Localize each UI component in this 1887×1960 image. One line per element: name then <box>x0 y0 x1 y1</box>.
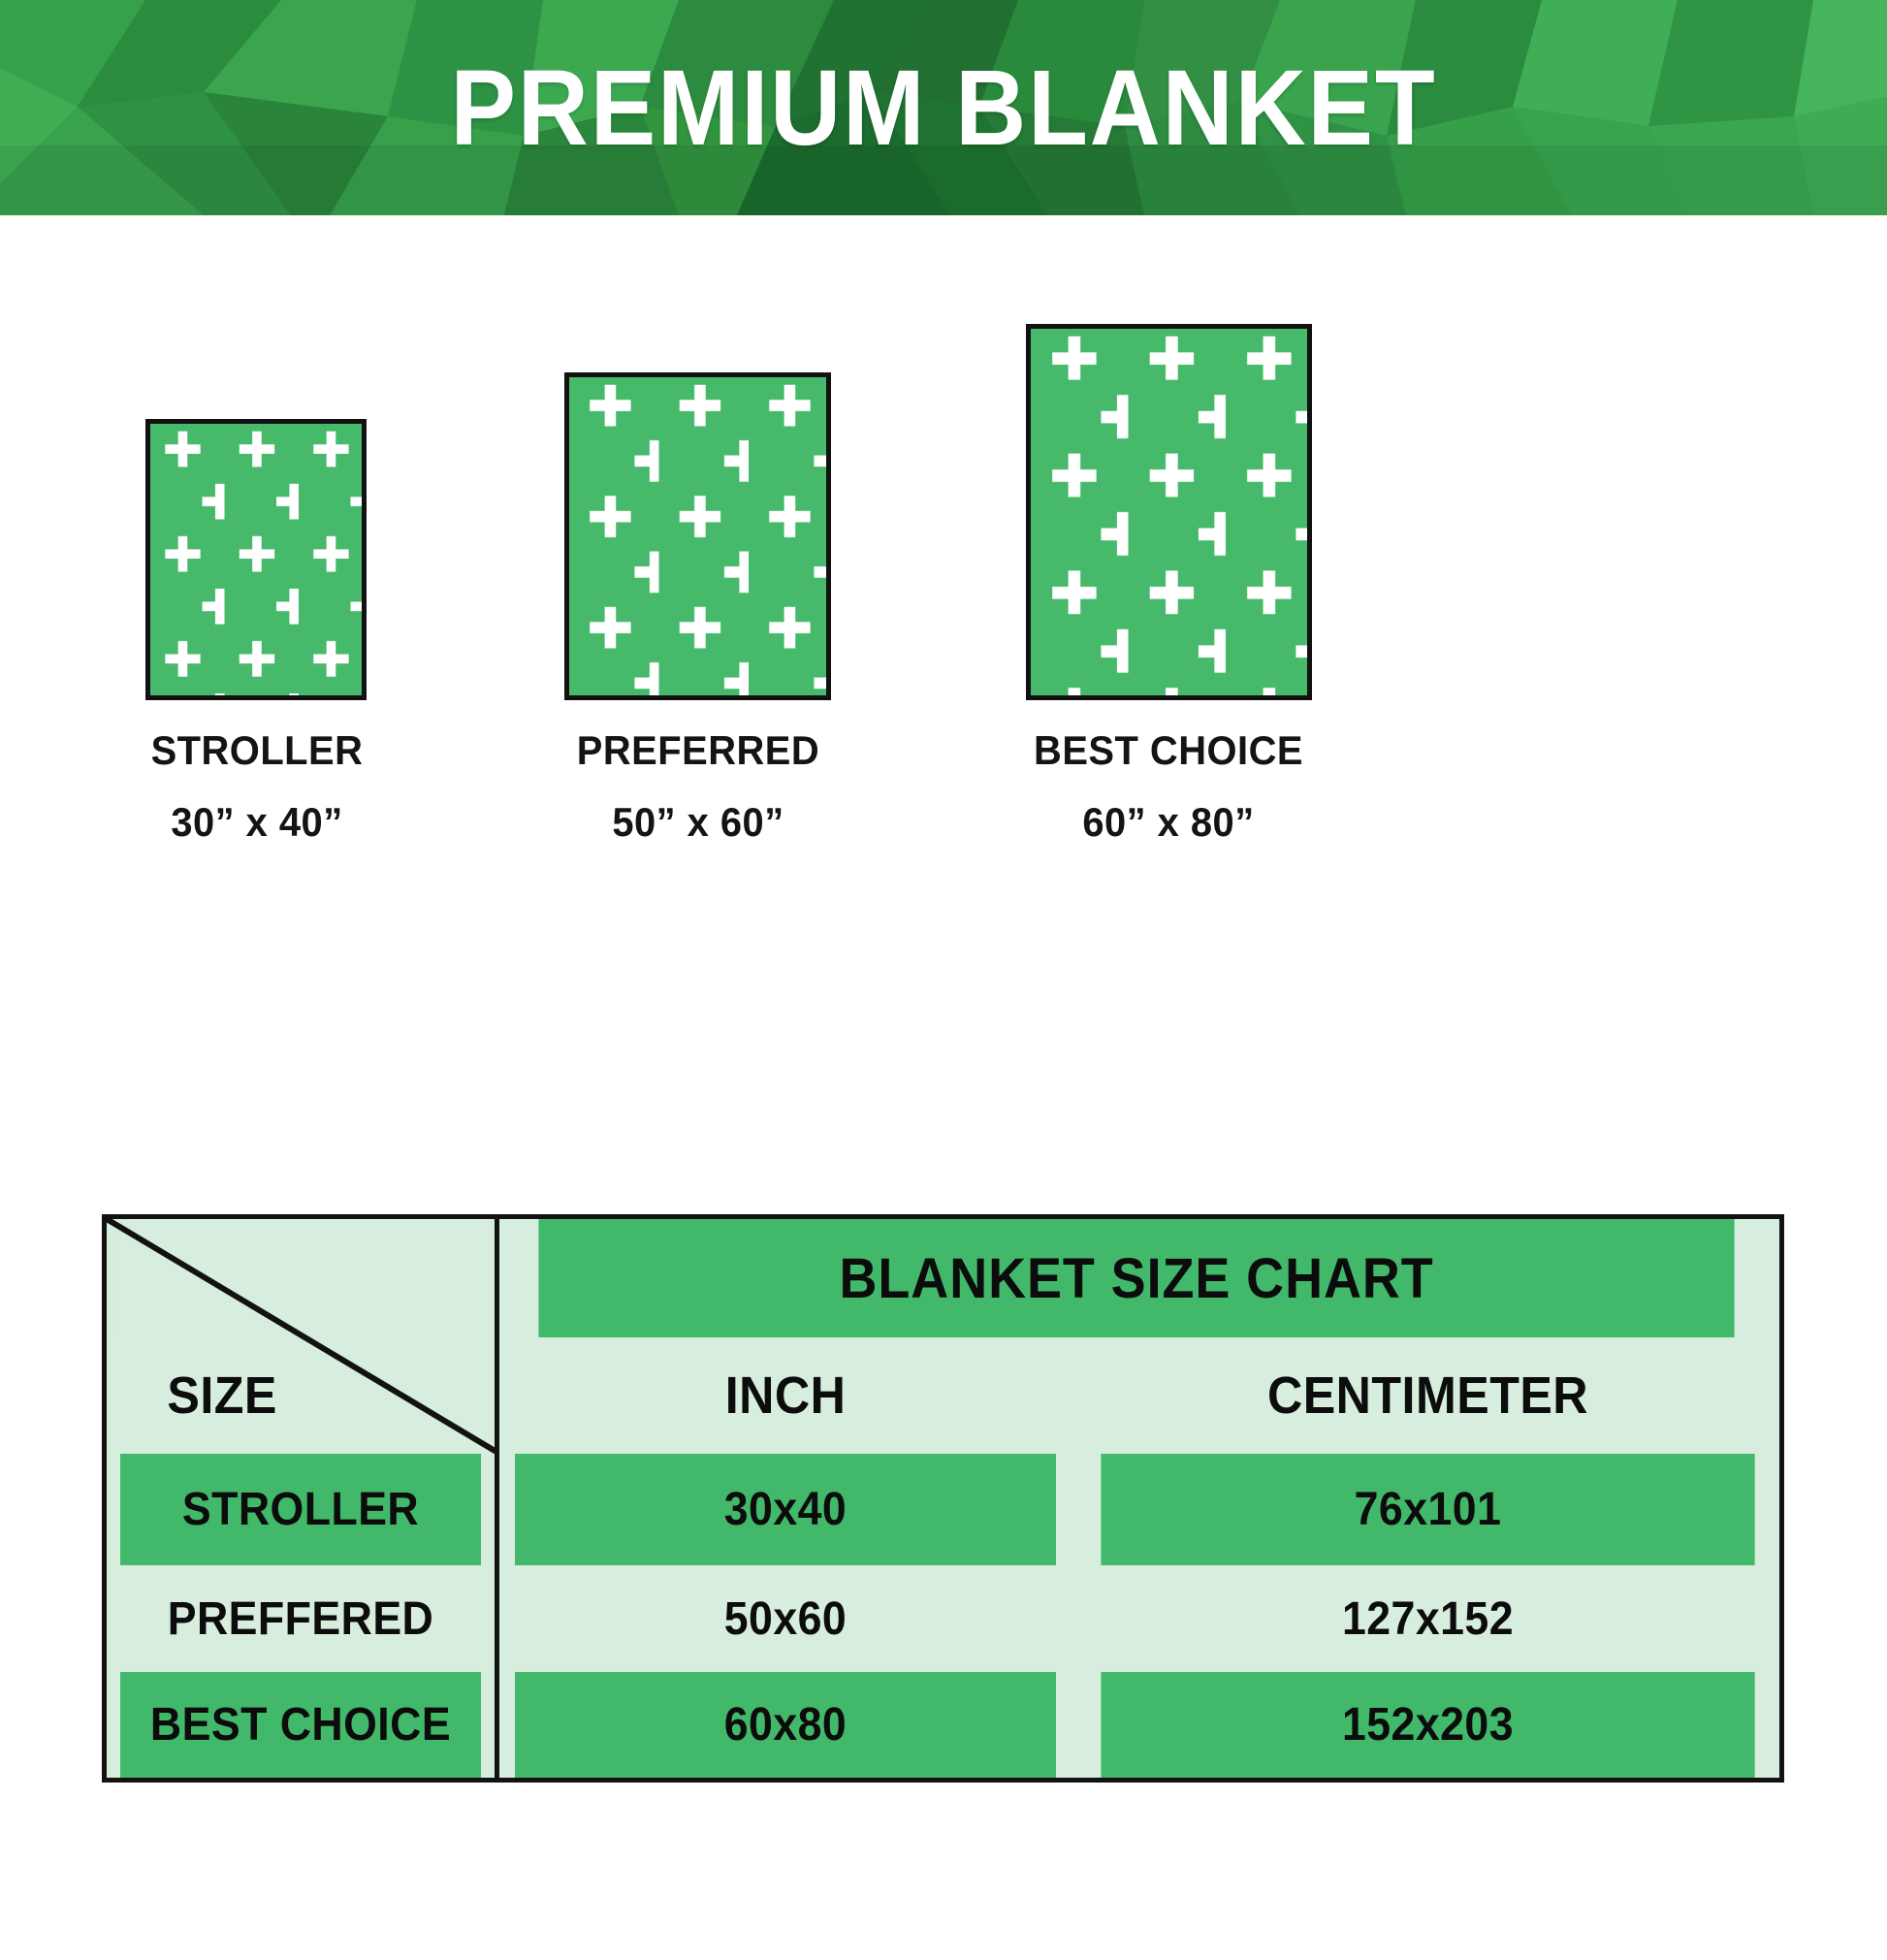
table-row: STROLLER 30x40 76x101 <box>107 1454 1779 1565</box>
table-header-size: SIZE <box>120 1337 481 1454</box>
header-banner: PREMIUM BLANKET <box>0 0 1887 215</box>
row-size-preffered: PREFFERED <box>120 1565 481 1672</box>
page-title: PREMIUM BLANKET <box>76 0 1811 215</box>
blanket-swatch-preferred[interactable] <box>564 372 831 700</box>
swatch-dims-preferred: 50” x 60” <box>509 799 887 846</box>
row-cm-best-choice: 152x203 <box>1101 1672 1754 1778</box>
row-size-best-choice: BEST CHOICE <box>120 1672 481 1778</box>
cross-pattern-icon <box>1031 329 1307 695</box>
swatch-dims-best-choice: 60” x 80” <box>979 799 1358 846</box>
row-inch-stroller: 30x40 <box>515 1454 1056 1565</box>
blanket-swatch-best-choice[interactable] <box>1026 324 1312 700</box>
table-header-centimeter: CENTIMETER <box>1101 1337 1754 1454</box>
cross-pattern-icon <box>150 424 362 695</box>
swatch-label-preferred: PREFERRED <box>509 727 887 774</box>
table-corner-cell-top <box>120 1219 480 1337</box>
table-row: PREFFERED 50x60 127x152 <box>107 1565 1779 1672</box>
swatch-row: STROLLER 30” x 40” <box>0 215 1887 1166</box>
page-root: PREMIUM BLANKET <box>0 0 1887 1960</box>
table-row: BEST CHOICE 60x80 152x203 <box>107 1672 1779 1778</box>
table-title-cell: BLANKET SIZE CHART <box>538 1219 1734 1337</box>
table-header-inch: INCH <box>515 1337 1056 1454</box>
cross-pattern-icon <box>569 377 826 695</box>
blanket-swatch-stroller[interactable] <box>145 419 367 700</box>
row-inch-best-choice: 60x80 <box>515 1672 1056 1778</box>
row-cm-stroller: 76x101 <box>1101 1454 1754 1565</box>
row-inch-preffered: 50x60 <box>515 1565 1056 1672</box>
table-header-row: SIZE INCH CENTIMETER <box>107 1337 1779 1454</box>
blanket-size-chart-table: BLANKET SIZE CHART SIZE INCH CENTIMETER … <box>102 1214 1784 1783</box>
row-cm-preffered: 127x152 <box>1101 1565 1754 1672</box>
table-title-row: BLANKET SIZE CHART <box>107 1219 1779 1337</box>
row-size-stroller: STROLLER <box>120 1454 481 1565</box>
swatch-label-stroller: STROLLER <box>68 727 446 774</box>
swatch-label-best-choice: BEST CHOICE <box>979 727 1358 774</box>
table-column-divider <box>495 1219 499 1778</box>
swatch-dims-stroller: 30” x 40” <box>68 799 446 846</box>
